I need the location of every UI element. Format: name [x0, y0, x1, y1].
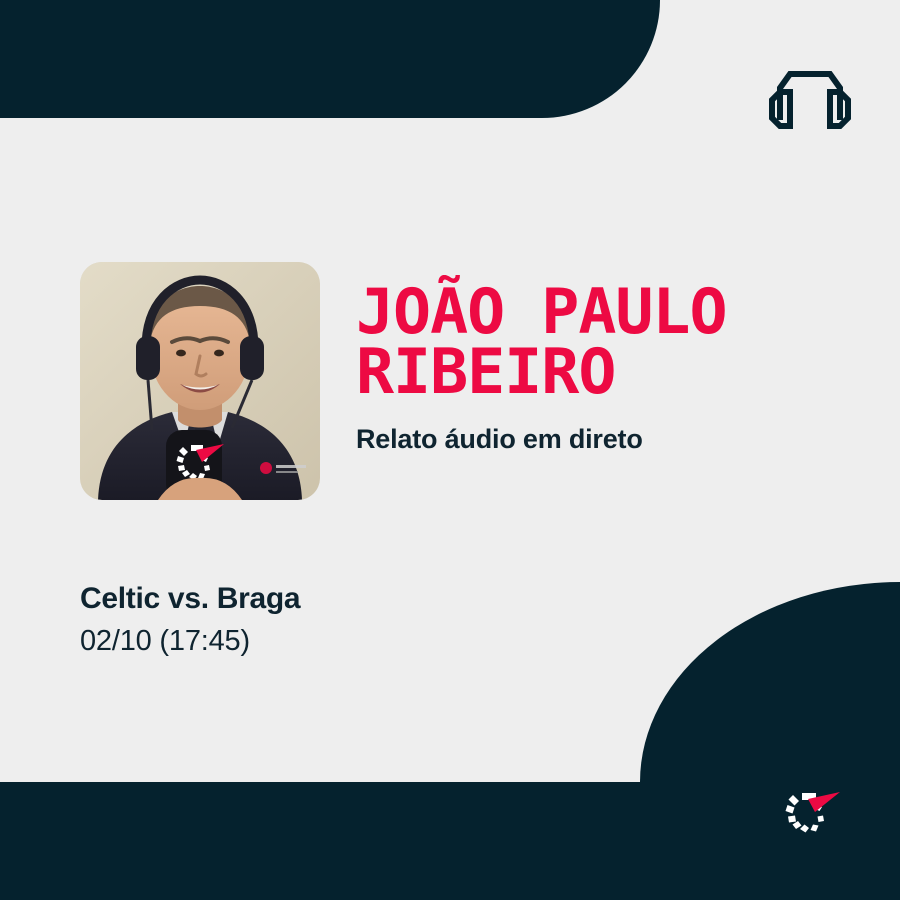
bottom-banner-band: [0, 782, 900, 900]
talent-role: Relato áudio em direto: [356, 424, 856, 455]
promo-card: JOÃO PAULO RIBEIRO Relato áudio em diret…: [0, 0, 900, 900]
top-banner-band: [0, 0, 660, 118]
brand-logo-icon: [782, 786, 844, 844]
match-datetime: 02/10 (17:45): [80, 625, 680, 658]
bottom-banner-curve: [640, 582, 900, 782]
match-info-block: Celtic vs. Braga 02/10 (17:45): [80, 582, 680, 658]
headphones-icon: [768, 62, 852, 134]
talent-name: JOÃO PAULO RIBEIRO: [356, 282, 866, 402]
match-fixture: Celtic vs. Braga: [80, 582, 680, 616]
talent-photo: [80, 262, 320, 500]
talent-text-block: JOÃO PAULO RIBEIRO Relato áudio em diret…: [356, 282, 856, 455]
